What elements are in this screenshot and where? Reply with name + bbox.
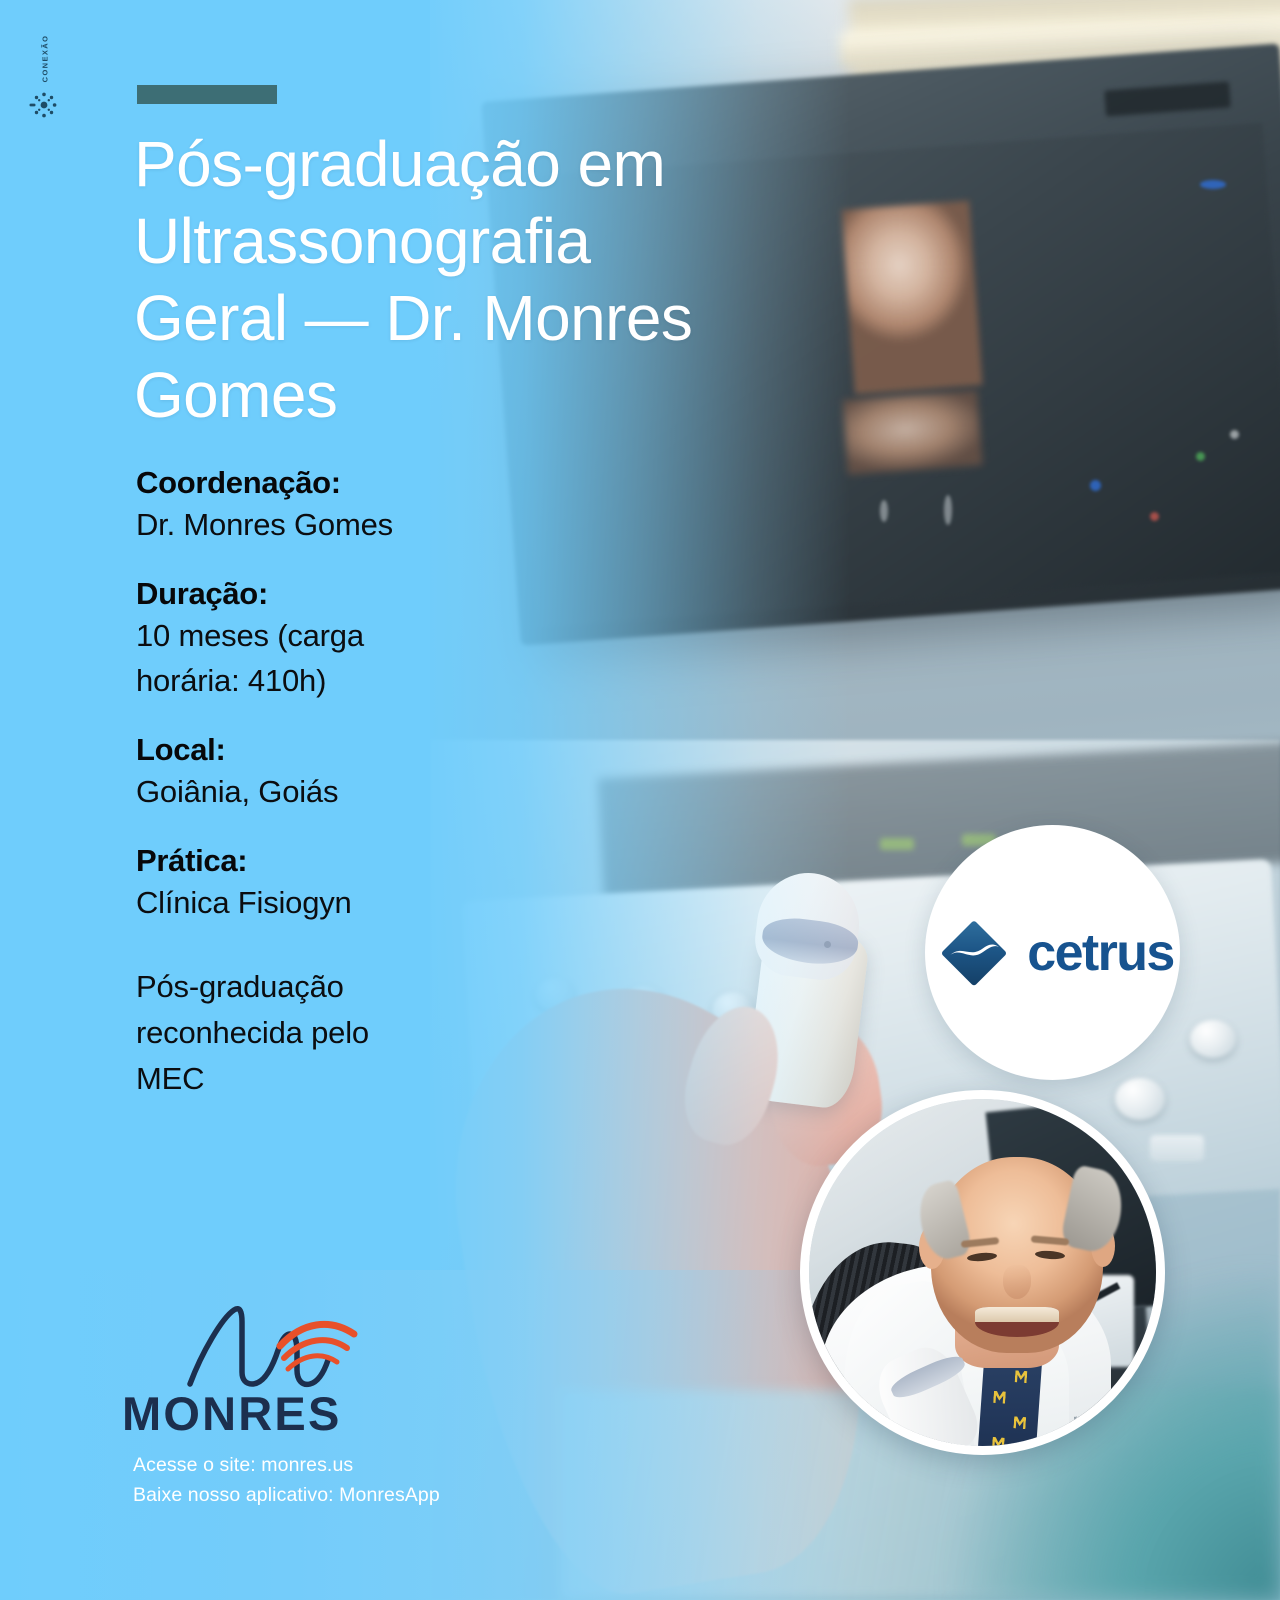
info-value: 10 meses (carga horária: 410h) [136, 613, 556, 703]
title-accent-rule [137, 85, 277, 104]
info-label: Coordenação: [136, 463, 556, 502]
cetrus-diamond-wave-icon [935, 914, 1013, 992]
info-block-local: Local: Goiânia, Goiás [136, 730, 556, 814]
cetrus-wordmark: cetrus [1027, 923, 1173, 983]
info-label: Prática: [136, 841, 556, 880]
doctor-teeth [975, 1307, 1059, 1322]
doctor-nose [1003, 1265, 1031, 1299]
course-info-list: Coordenação: Dr. Monres Gomes Duração: 1… [136, 463, 556, 1102]
conexao-brand-mark: CONEXÃO [22, 28, 64, 120]
info-block-duracao: Duração: 10 meses (carga horária: 410h) [136, 574, 556, 703]
monres-wordmark: MONRES [122, 1386, 412, 1441]
page-title: Pós-graduação em Ultrassonografia Geral … [134, 126, 854, 434]
info-value: Goiânia, Goiás [136, 769, 556, 814]
info-block-coordenacao: Coordenação: Dr. Monres Gomes [136, 463, 556, 547]
doctor-smile [975, 1307, 1059, 1337]
doctor-portrait: res José G A & TRAUMA [800, 1090, 1165, 1455]
info-label: Local: [136, 730, 556, 769]
poster-content: CONEXÃO [0, 0, 1280, 1600]
cetrus-badge: cetrus [925, 825, 1180, 1080]
portrait-scene: res José G A & TRAUMA [809, 1099, 1156, 1446]
monres-logo: MONRES [122, 1300, 412, 1441]
footer-contact: Acesse o site: monres.us Baixe nosso apl… [133, 1450, 440, 1510]
info-value: Clínica Fisiogyn [136, 880, 556, 925]
info-label: Duração: [136, 574, 556, 613]
monres-wave-m-icon [182, 1300, 372, 1390]
info-block-pratica: Prática: Clínica Fisiogyn [136, 841, 556, 925]
conexao-label: CONEXÃO [41, 28, 50, 90]
radial-dot-burst-icon [29, 90, 59, 120]
info-value: Dr. Monres Gomes [136, 502, 556, 547]
cetrus-lockup: cetrus [935, 914, 1173, 992]
mec-recognition-note: Pós-graduação reconhecida pelo MEC [136, 964, 556, 1102]
poster-canvas: CONEXÃO [0, 0, 1280, 1600]
